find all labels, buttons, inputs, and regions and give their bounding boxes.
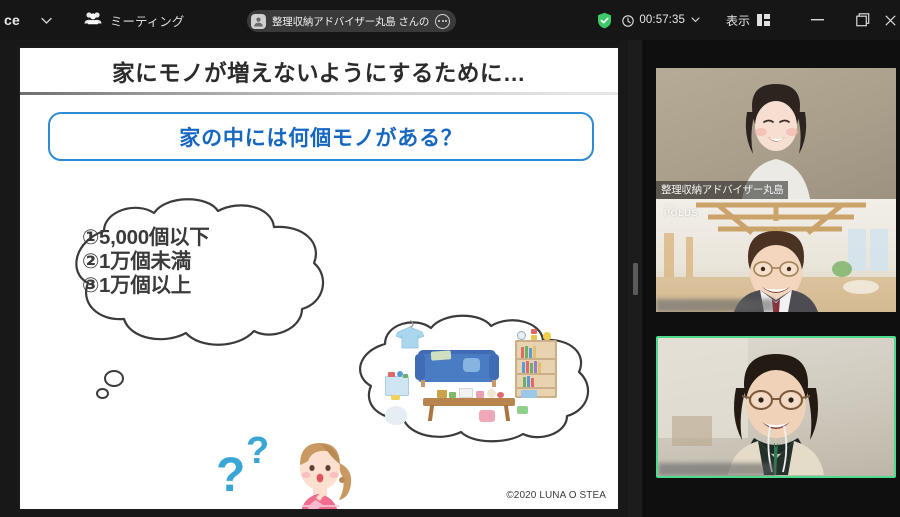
titlebar-right-group: 00:57:35 表示 xyxy=(597,0,900,40)
slide-title: 家にモノが増えないようにするために… xyxy=(20,56,618,88)
toy-box-icon xyxy=(385,376,409,396)
table-item xyxy=(487,389,496,398)
toy-item xyxy=(403,374,408,378)
meeting-section[interactable]: ミーティング xyxy=(84,11,184,30)
table-item xyxy=(459,388,473,398)
view-label: 表示 xyxy=(726,12,750,29)
meeting-window: ce ミーティング xyxy=(0,0,900,517)
bag-icon xyxy=(385,406,407,425)
question-mark-small: ? xyxy=(246,430,269,473)
option-item: ②1万個未満 xyxy=(82,250,209,274)
floor-item xyxy=(479,410,495,422)
table-item xyxy=(476,391,484,398)
coffee-table-top xyxy=(423,398,515,406)
presentation-slide: 家にモノが増えないようにするために… 家の中には何個モノがある？ ①5,000個… xyxy=(18,46,620,511)
question-box: 家の中には何個モノがある？ xyxy=(48,112,594,161)
question-mark-large: ? xyxy=(216,448,245,503)
meeting-timer[interactable]: 00:57:35 xyxy=(622,14,700,26)
video-tile[interactable]: ポラス POLUS xyxy=(656,199,896,312)
sofa-arm-left xyxy=(415,354,425,380)
participant-video xyxy=(656,68,896,199)
view-layout-control[interactable]: 表示 xyxy=(726,12,770,29)
app-name-label: ce xyxy=(2,12,20,28)
table-item xyxy=(497,392,504,398)
restore-window-icon[interactable] xyxy=(846,0,880,40)
room-illustration xyxy=(345,310,603,445)
participant-video-panel: 整理収納アドバイザー丸島 xyxy=(642,40,900,517)
shelf-duck xyxy=(543,332,551,340)
more-dots-icon[interactable] xyxy=(435,14,450,29)
title-divider xyxy=(20,92,618,95)
avatar-icon xyxy=(251,14,266,29)
panel-divider[interactable] xyxy=(628,40,642,517)
minimize-icon[interactable] xyxy=(800,0,834,40)
question-text: 家の中には何個モノがある？ xyxy=(179,122,462,152)
timer-value: 00:57:35 xyxy=(639,14,685,26)
toy-item xyxy=(388,372,395,377)
video-tile[interactable]: 整理収納アドバイザー丸島 xyxy=(656,68,896,199)
close-icon[interactable] xyxy=(880,0,900,40)
hanging-shirt-icon xyxy=(393,320,427,350)
bookshelf-icon xyxy=(515,340,557,398)
polus-watermark: ポラス POLUS xyxy=(664,205,698,218)
sofa-leg-left xyxy=(421,380,425,387)
table-item xyxy=(449,392,456,398)
meeting-label: ミーティング xyxy=(110,11,184,30)
toy-item xyxy=(391,395,400,400)
option-item: ③1万個以上 xyxy=(82,274,209,298)
title-bar: ce ミーティング xyxy=(0,0,900,40)
participant-name-blurred xyxy=(658,463,776,476)
shelf-clock xyxy=(517,331,526,340)
video-tile-active-speaker[interactable] xyxy=(656,336,896,478)
participant-name-label: 整理収納アドバイザー丸島 xyxy=(656,181,788,199)
chevron-down-icon[interactable] xyxy=(691,17,700,23)
table-item xyxy=(437,390,447,398)
sofa-body xyxy=(418,354,496,382)
thinking-woman-illustration xyxy=(275,428,365,511)
polus-watermark-text: POLUS xyxy=(664,208,698,218)
shared-content-label: 整理収納アドバイザー丸島 さんの xyxy=(272,14,429,29)
floor-item xyxy=(517,406,528,414)
sofa-arm-right xyxy=(489,354,499,380)
shelf-box-yellow xyxy=(531,335,537,340)
options-list: ①5,000個以下 ②1万個未満 ③1万個以上 xyxy=(82,226,209,299)
participant-name-blurred xyxy=(656,299,774,312)
thought-bubble-small xyxy=(96,388,109,399)
shared-screen-stage[interactable]: 家にモノが増えないようにするために… 家の中には何個モノがある？ ①5,000個… xyxy=(0,40,640,517)
thought-bubble-small xyxy=(104,370,124,387)
people-icon xyxy=(84,11,102,29)
clock-icon xyxy=(622,14,634,26)
drag-handle-icon[interactable] xyxy=(633,263,638,295)
participant-video xyxy=(658,338,893,475)
coffee-table-leg xyxy=(504,405,510,421)
shield-check-icon[interactable] xyxy=(597,12,612,29)
shelf-box-red xyxy=(531,329,537,334)
sofa-leg-right xyxy=(492,380,496,387)
shared-content-pill[interactable]: 整理収納アドバイザー丸島 さんの xyxy=(247,10,456,32)
titlebar-left-group: ce ミーティング xyxy=(0,0,184,40)
chevron-down-icon[interactable] xyxy=(34,7,60,33)
option-item: ①5,000個以下 xyxy=(82,226,209,250)
copyright-text: ©2020 LUNA O STEA xyxy=(506,490,606,501)
sofa-pillow xyxy=(463,358,480,372)
coffee-table-leg xyxy=(428,405,434,421)
sofa-cushion xyxy=(431,350,452,360)
layout-grid-icon xyxy=(757,14,770,26)
